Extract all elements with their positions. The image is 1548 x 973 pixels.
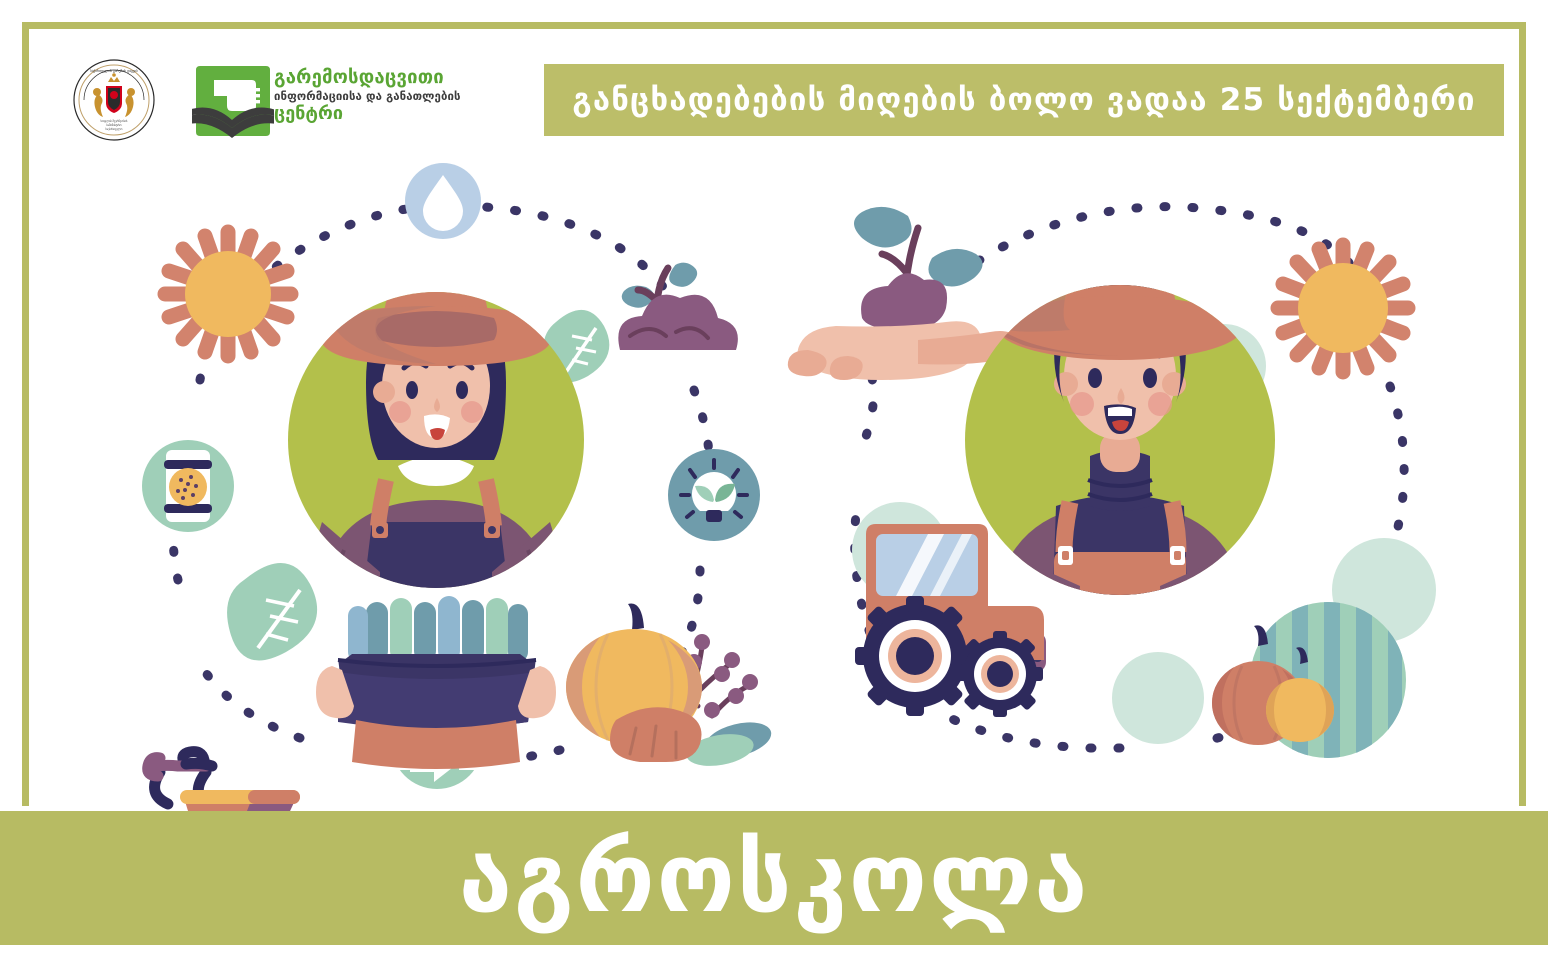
svg-text:სამინისტრო: სამინისტრო xyxy=(106,123,121,127)
environmental-center-logo: გარემოსდაცვითი ინფორმაციისა და განათლები… xyxy=(192,60,432,144)
watermelon-icon xyxy=(1212,602,1406,758)
title-band: აგროსკოლა xyxy=(0,811,1548,945)
sun-icon xyxy=(1278,245,1408,372)
deadline-banner-text: განცხადებების მიღების ბოლო ვადაა 25 სექტ… xyxy=(572,82,1475,118)
deadline-banner: განცხადებების მიღების ბოლო ვადაა 25 სექტ… xyxy=(544,64,1504,136)
poster: საქართველოს გარემოს დაცვის სოფლის მეურნე… xyxy=(0,0,1548,973)
vegetable-crate xyxy=(316,596,556,769)
circle-decor-icon xyxy=(1112,652,1204,744)
svg-text:სოფლის მეურნეობის: სოფლის მეურნეობის xyxy=(101,119,128,123)
lightbulb-leaf-icon xyxy=(668,449,760,541)
pumpkin-icon xyxy=(566,604,775,771)
logo-line-2: ინფორმაციისა და განათლების xyxy=(274,89,434,103)
water-drop-icon xyxy=(405,163,481,239)
logo-text-block: გარემოსდაცვითი ინფორმაციისა და განათლები… xyxy=(274,68,434,124)
sun-icon xyxy=(165,232,291,356)
sprout-soil-icon xyxy=(618,259,738,350)
logo-line-3: ცენტრი xyxy=(274,105,434,124)
illustration-stage xyxy=(0,150,1548,815)
illustration-artwork xyxy=(0,150,1548,815)
leaf-icon xyxy=(227,563,317,661)
female-farmer-illustration xyxy=(288,268,584,769)
open-book-logo-mark xyxy=(192,62,274,140)
poster-title: აგროსკოლა xyxy=(459,830,1089,926)
wheelbarrow-icon xyxy=(148,752,304,815)
seed-jar-icon xyxy=(142,440,234,532)
georgia-coat-of-arms-seal: საქართველოს გარემოს დაცვის სოფლის მეურნე… xyxy=(72,58,156,142)
hand-sprout-icon xyxy=(788,207,1019,380)
svg-text:საქართველოს გარემოს დაცვის: საქართველოს გარემოს დაცვის xyxy=(90,69,138,73)
svg-text:საქართველო: საქართველო xyxy=(106,127,123,131)
logo-line-1: გარემოსდაცვითი xyxy=(274,68,434,87)
